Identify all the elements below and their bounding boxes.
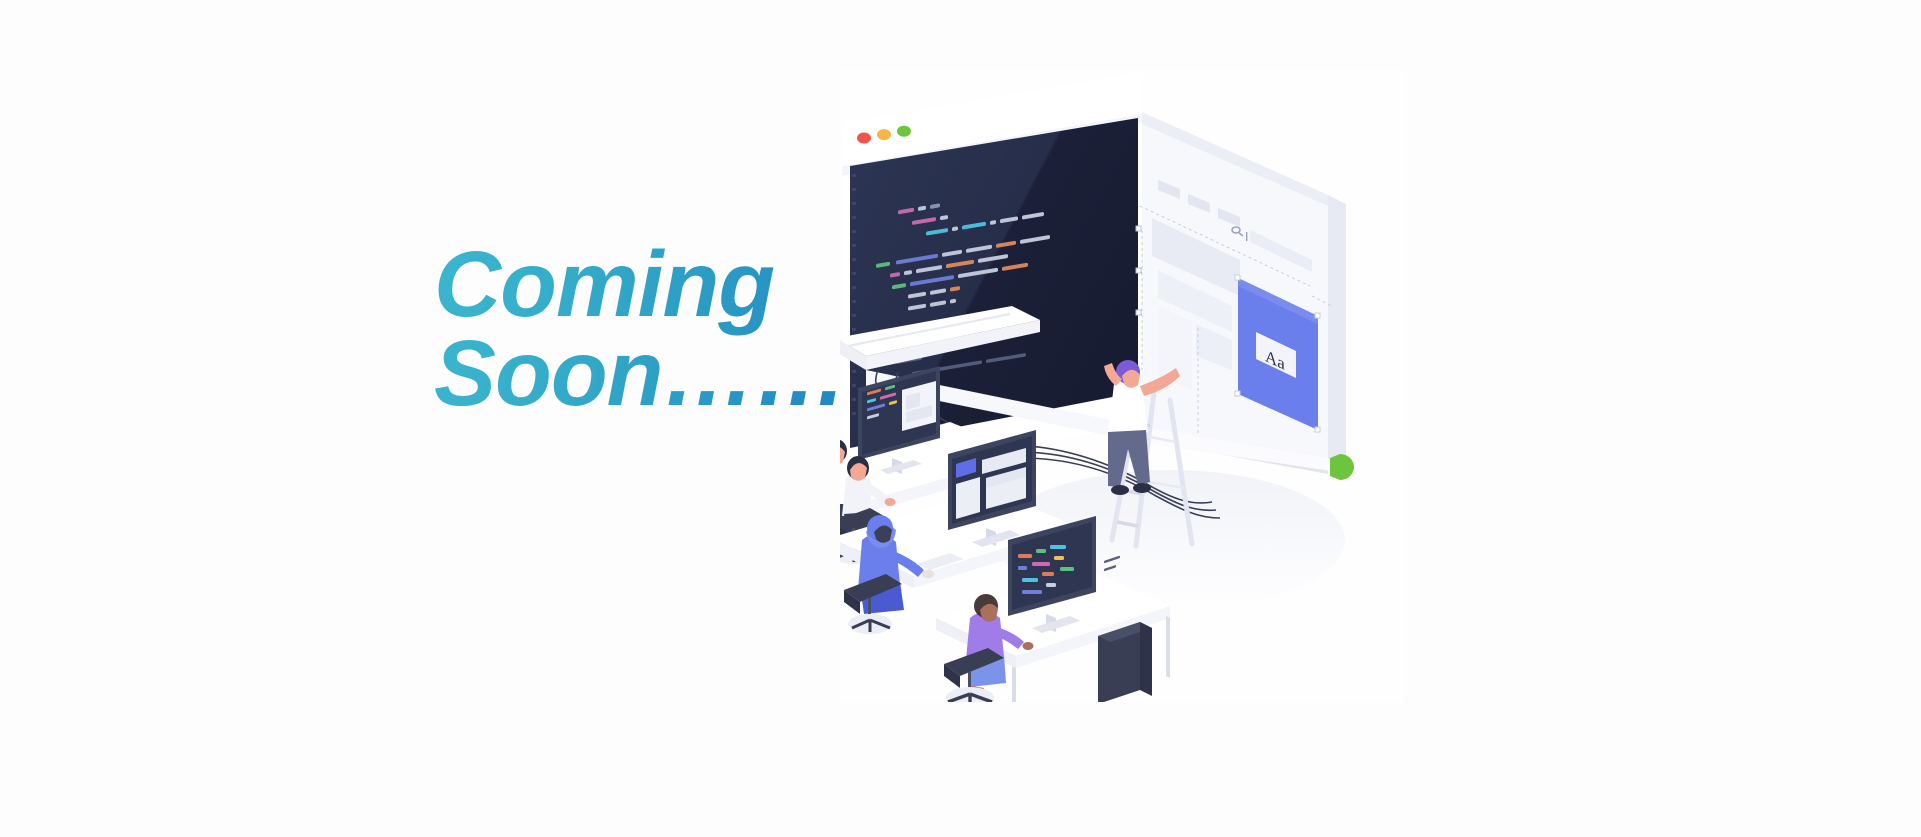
illustration-container: Aa <box>840 70 1405 702</box>
green-accent-cap <box>1330 454 1354 480</box>
isometric-dev-team-illustration: Aa <box>840 70 1405 702</box>
coming-soon-page: ComingSoon…… <box>0 0 1921 837</box>
